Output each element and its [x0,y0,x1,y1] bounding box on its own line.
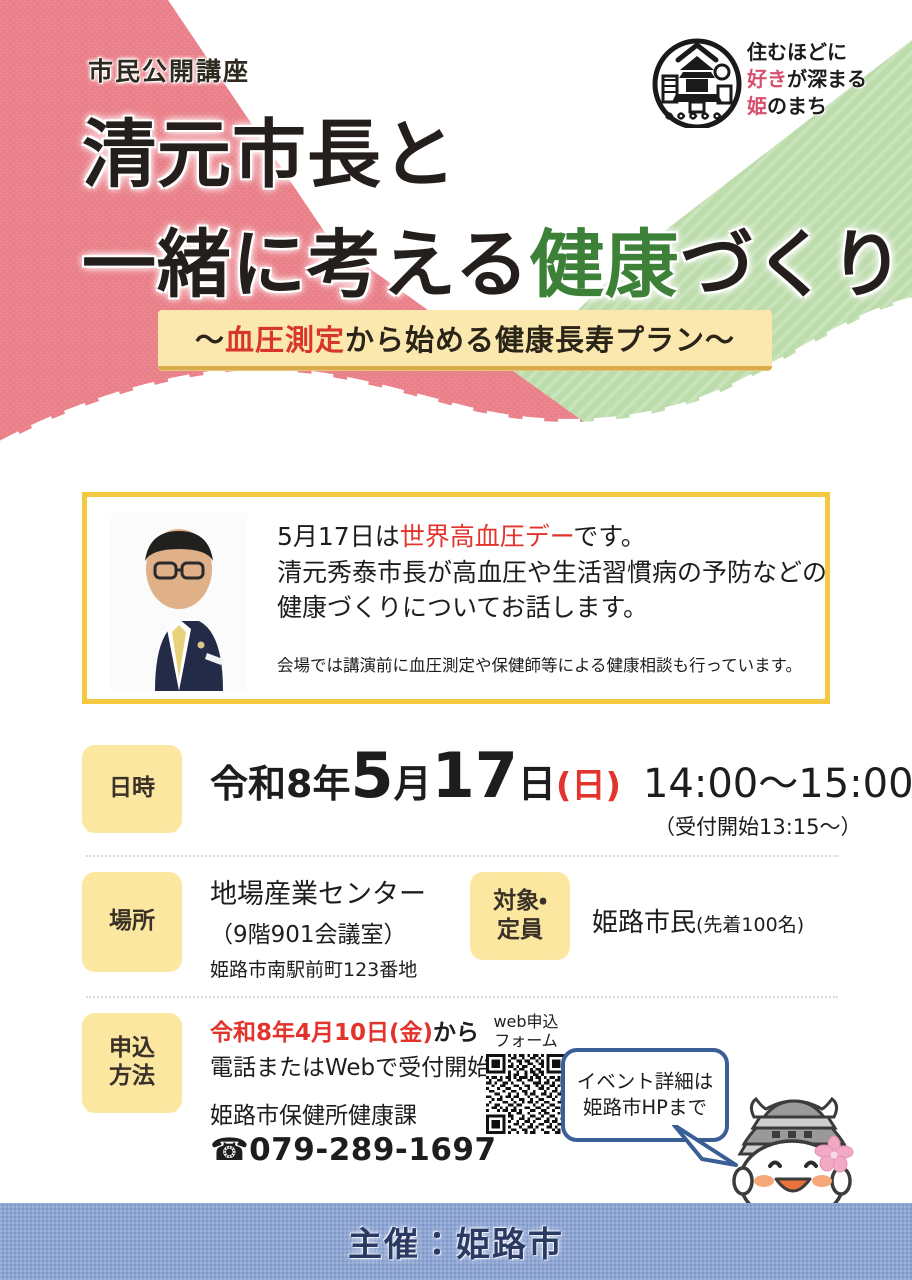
chip-datetime: 日時 [82,745,182,833]
capacity-note: (先着100名) [696,914,804,936]
date-month-number: 5 [350,745,393,807]
poster-footer: 主催：姫路市 [0,1203,912,1280]
qr-label-line-1: web申込 [478,1013,574,1032]
speech-bubble-line-1: イベント詳細は [577,1069,714,1095]
mayor-portrait-photo [111,513,247,691]
poster-header: 市民公開講座 清元市長と 一緒に考える健康づくり 〜血圧測定から始める健康長寿プ… [0,0,912,462]
place-address: 姫路市南駅前町123番地 [210,955,460,982]
chip-target-capacity: 対象・ 定員 [470,872,570,960]
divider-2 [86,996,838,999]
header-text-layer: 市民公開講座 清元市長と 一緒に考える健康づくり 〜血圧測定から始める健康長寿プ… [0,0,912,462]
apply-text: 令和8年4月10日(金)から 電話またはWebで受付開始 姫路市保健所健康課 ☎… [210,1013,460,1168]
poster-title-line-2: 一緒に考える健康づくり [82,205,905,312]
intro-info-box: 5月17日は世界高血圧デーです。 清元秀泰市長が高血圧や生活習慣病の予防などの … [82,492,830,704]
tagline-line-3-highlight: 姫 [747,94,767,118]
apply-start-line: 令和8年4月10日(金)から [210,1013,460,1047]
portrait-illustration [111,513,247,691]
city-brand-tagline: 住むほどに 好きが深まる 姫のまち [747,39,867,119]
row-place-body: 地場産業センター （9階901会議室） 姫路市南駅前町123番地 対象・ 定員 … [182,872,842,982]
ribbon-prefix: 〜 [195,323,225,357]
poster-root: 市民公開講座 清元市長と 一緒に考える健康づくり 〜血圧測定から始める健康長寿プ… [0,0,912,1280]
tagline-line-1: 住むほどに [747,39,867,66]
organizer-text: 主催：姫路市 [348,1217,564,1266]
speech-bubble-line-2: 姫路市HPまで [577,1095,714,1121]
apply-start-suffix: から [433,1020,479,1046]
title-line2-highlight: 健康 [530,222,680,308]
intro-line-1-a: 5月17日は [277,522,400,551]
city-brand-logo: 住むほどに 好きが深まる 姫のまち [652,36,862,136]
tagline-line-2-rest: が深まる [787,67,867,91]
date-month-unit: 月 [394,753,432,808]
subtitle-ribbon: 〜血圧測定から始める健康長寿プラン〜 [158,310,772,370]
reception-start-note: （受付開始13:15〜） [210,811,912,841]
intro-line-2: 清元秀泰市長が高血圧や生活習慣病の予防などの [277,555,811,591]
ribbon-highlight: 血圧測定 [225,323,345,357]
place-and-target: 地場産業センター （9階901会議室） 姫路市南駅前町123番地 対象・ 定員 … [210,872,842,982]
apply-method-line: 電話またはWebで受付開始 [210,1048,460,1082]
place-room: （9階901会議室） [210,915,460,949]
date-day-unit: 日 [518,753,556,808]
tagline-line-3: 姫のまち [747,93,867,120]
place-name: 地場産業センター [210,872,460,911]
intro-line-1: 5月17日は世界高血圧デーです。 [277,519,811,555]
apply-department: 姫路市保健所健康課 [210,1096,460,1130]
qr-label-line-2: フォーム [478,1032,574,1051]
chip-target-lines: 対象・ 定員 [493,887,547,945]
intro-note: 会場では講演前に血圧測定や保健師等による健康相談も行っています。 [277,652,811,676]
intro-line-1-b: です。 [573,522,646,551]
target-audience: 姫路市民 [592,908,696,938]
title-line2-part-b: づくり [680,222,905,308]
apply-start-date: 令和8年4月10日(金) [210,1020,433,1046]
row-place: 場所 地場産業センター （9階901会議室） 姫路市南駅前町123番地 対象・ … [82,872,842,982]
date-era: 令和8年 [210,753,350,808]
poster-title-line-1: 清元市長と [82,95,457,202]
row-datetime: 日時 令和8年5月17日(日) 14:00〜15:00 （受付開始13:15〜） [82,745,842,841]
intro-line-1-highlight: 世界高血圧デー [400,522,574,551]
event-time-range: 14:00〜15:00 [643,751,912,809]
chip-target-line-1: 対象・ [493,887,547,916]
tagline-line-2: 好きが深まる [747,66,867,93]
date-weekday: (日) [556,758,621,807]
title-line2-part-a: 一緒に考える [82,222,530,308]
chip-apply-line-1: 申込 [109,1035,155,1063]
chip-place: 場所 [82,872,182,972]
himeji-castle-emblem-icon [652,36,742,128]
chip-apply-line-2: 方法 [109,1063,155,1091]
poster-kicker: 市民公開講座 [88,52,250,88]
divider-1 [86,855,838,858]
subtitle-text: 〜血圧測定から始める健康長寿プラン〜 [195,317,735,359]
web-application-qr-code-icon[interactable] [486,1054,566,1134]
datetime-value: 令和8年5月17日(日) 14:00〜15:00 [210,745,912,809]
speech-bubble-text: イベント詳細は 姫路市HPまで [577,1069,714,1121]
qr-code-block[interactable]: web申込 フォーム [478,1013,574,1138]
target-capacity-value: 姫路市民(先着100名) [592,902,804,939]
ribbon-rest: から始める健康長寿プラン〜 [345,323,735,357]
tagline-line-3-rest: のまち [767,94,827,118]
row-datetime-body: 令和8年5月17日(日) 14:00〜15:00 （受付開始13:15〜） [182,745,912,841]
intro-text-block: 5月17日は世界高血圧デーです。 清元秀泰市長が高血圧や生活習慣病の予防などの … [277,519,811,676]
chip-target-line-2: 定員 [493,916,547,945]
chip-apply-method: 申込 方法 [82,1013,182,1113]
date-day-number: 17 [432,745,518,807]
chip-apply-lines: 申込 方法 [109,1035,155,1090]
apply-telephone[interactable]: ☎079-289-1697 [210,1132,460,1168]
tagline-line-2-highlight: 好き [747,67,787,91]
intro-line-3: 健康づくりについてお話します。 [277,590,811,626]
place-value: 地場産業センター （9階901会議室） 姫路市南駅前町123番地 [210,872,460,982]
